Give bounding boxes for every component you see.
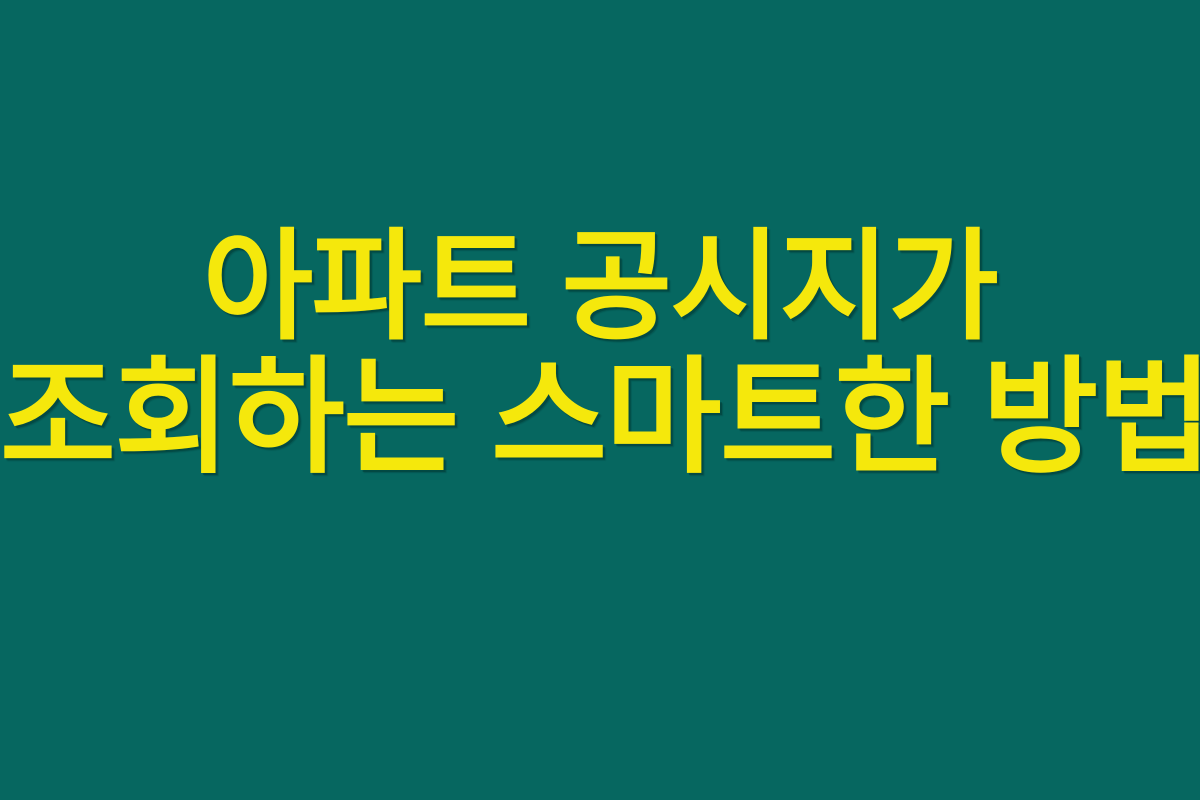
headline-block: 아파트 공시지가 조회하는 스마트한 방법: [0, 0, 1200, 800]
headline-line-2: 조회하는 스마트한 방법: [0, 354, 1200, 483]
headline-line-1: 아파트 공시지가: [0, 226, 1200, 348]
banner-canvas: 아파트 공시지가 조회하는 스마트한 방법: [0, 0, 1200, 800]
